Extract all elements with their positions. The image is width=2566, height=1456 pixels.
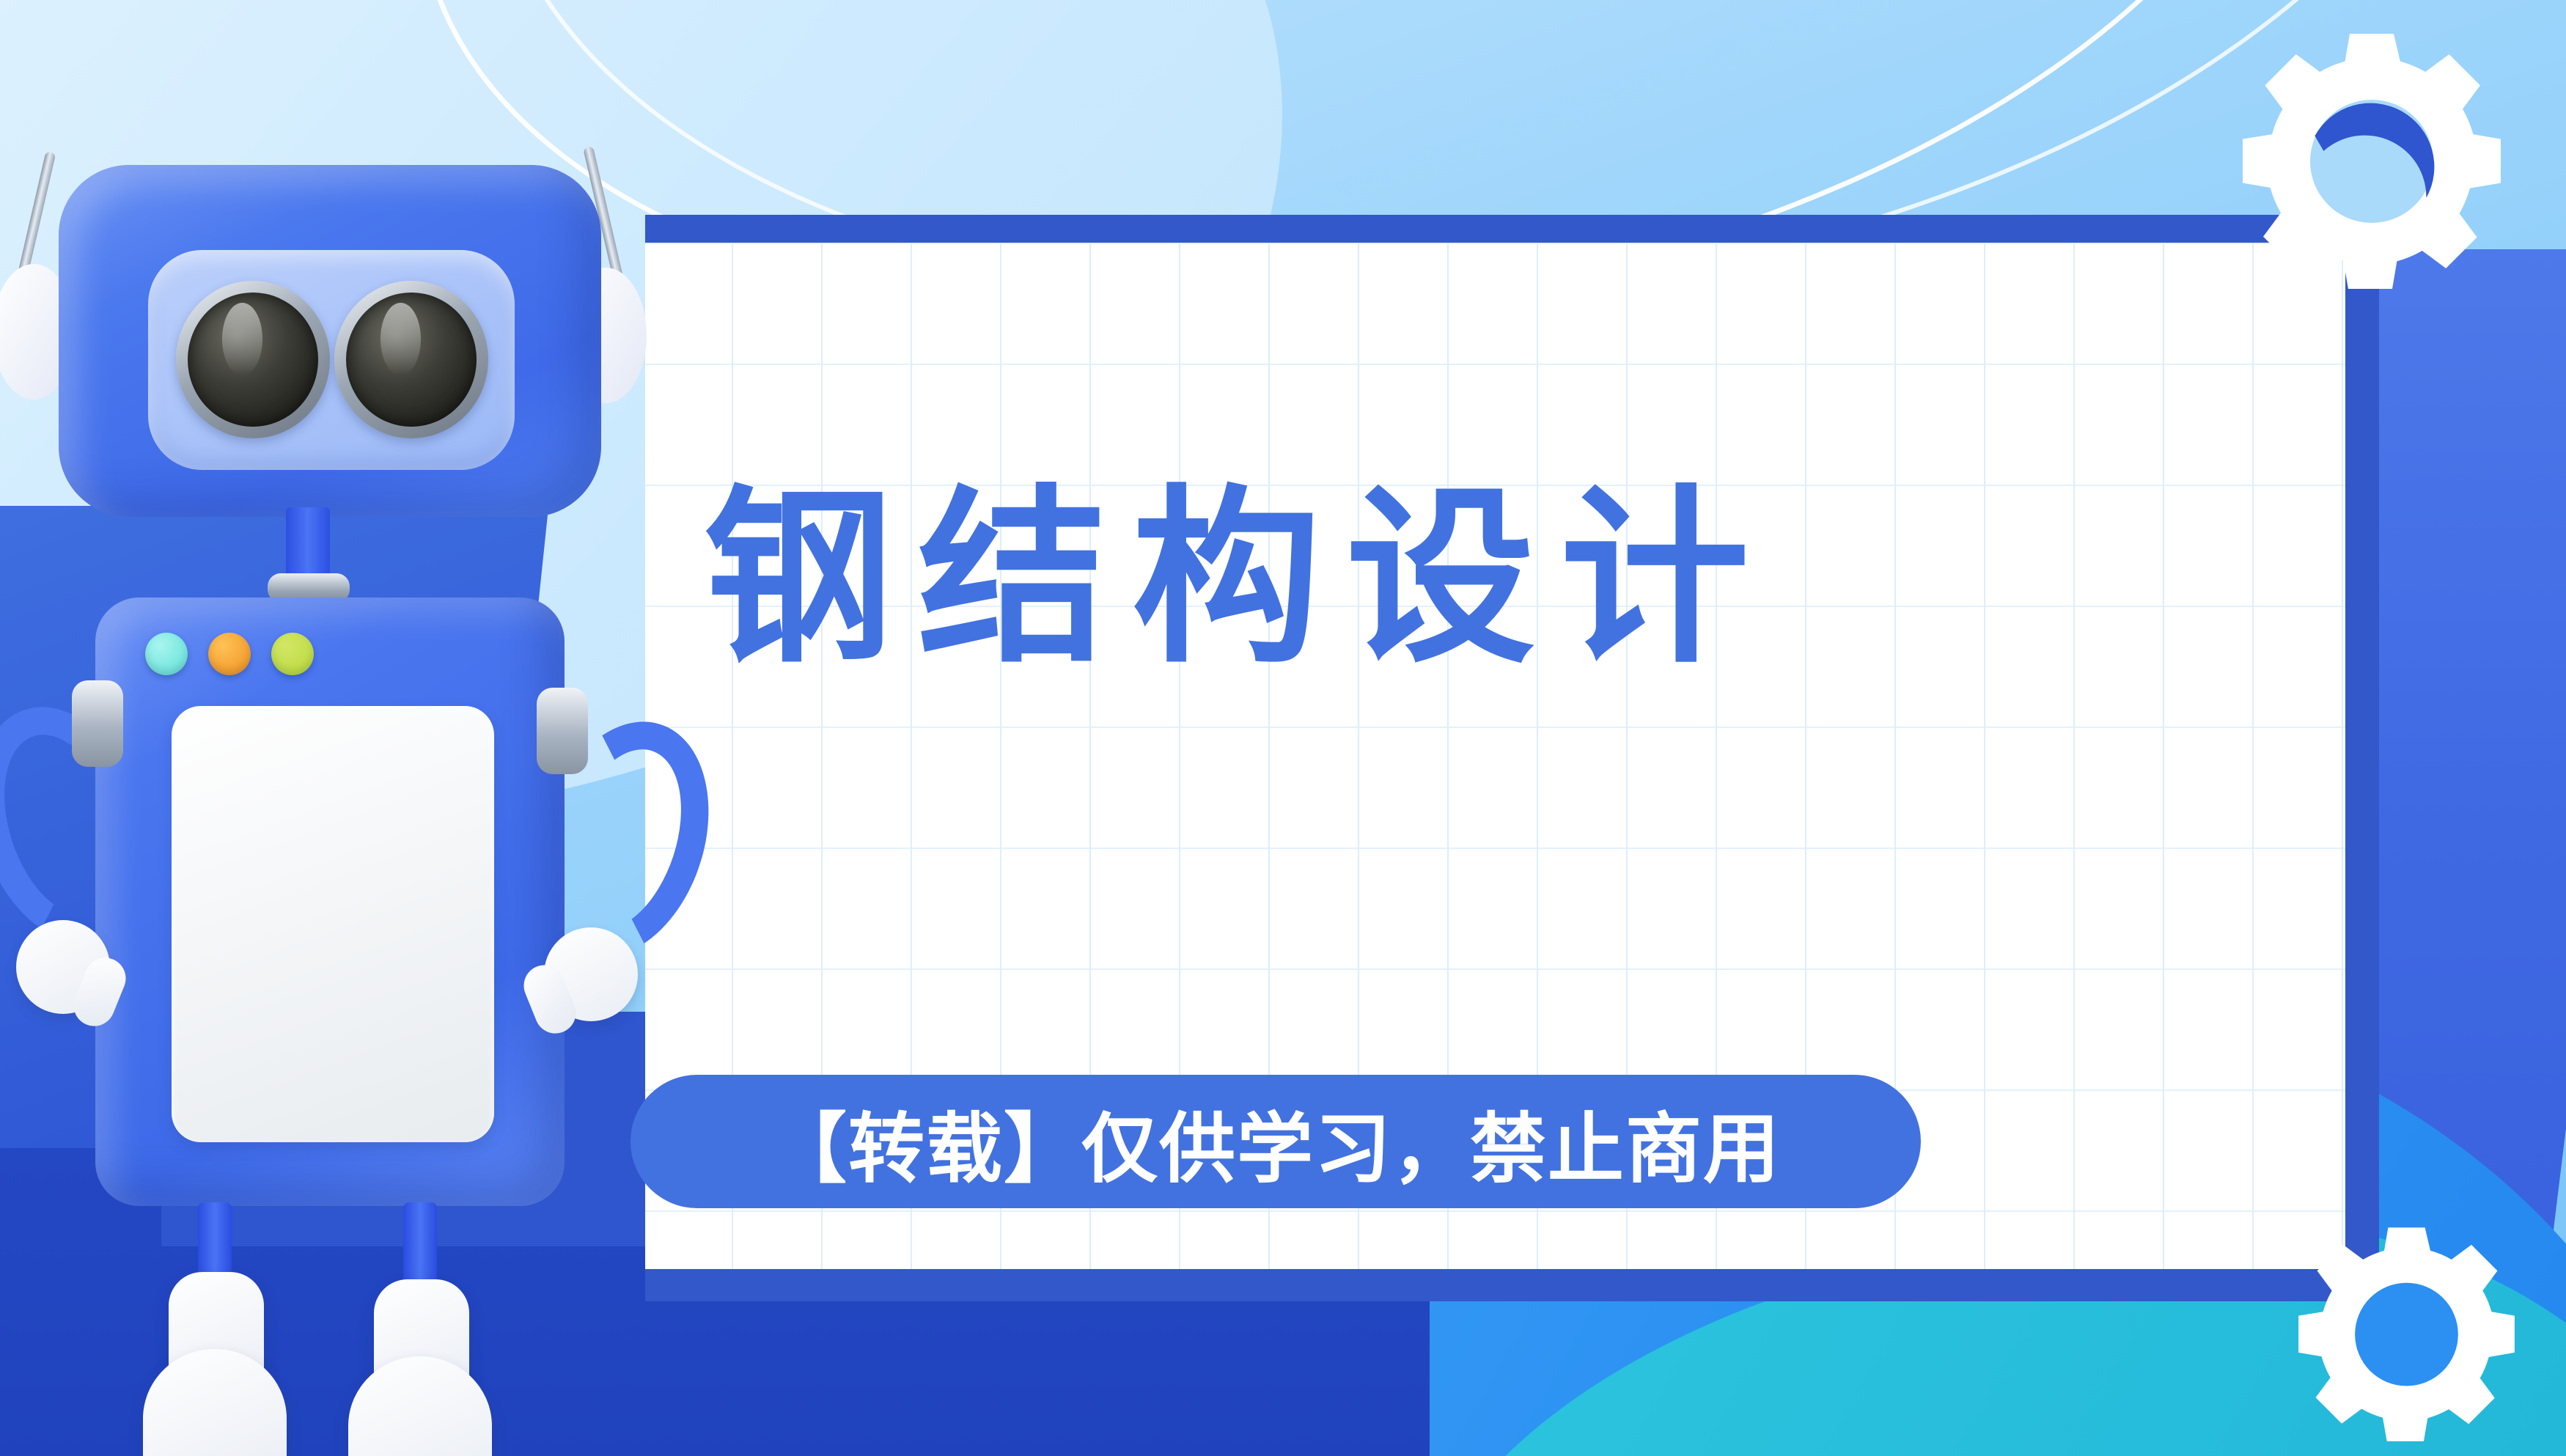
status-dot-orange: [208, 633, 251, 675]
robot-mascot: [0, 59, 704, 1378]
gear-icon: [2225, 22, 2518, 315]
card-right-border: [2345, 243, 2379, 1269]
eye-right-highlight: [381, 303, 421, 375]
robot-screen: [172, 706, 494, 1142]
page-title: 钢结构设计: [704, 484, 2287, 673]
shoulder-left: [72, 680, 123, 767]
eye-left-highlight: [222, 303, 262, 375]
eye-left: [176, 281, 330, 438]
card-bottom-border: [645, 1269, 2379, 1301]
shoulder-right: [537, 688, 588, 774]
notice-banner-text: 【转载】仅供学习，禁止商用: [771, 1087, 1781, 1197]
status-dot-cyan: [145, 633, 188, 675]
gear-icon: [2284, 1218, 2529, 1456]
robot-faceplate: [148, 250, 515, 470]
card-top-border: [645, 215, 2379, 243]
foot-right: [348, 1356, 492, 1456]
robot-body: [95, 598, 565, 1206]
notice-banner: 【转载】仅供学习，禁止商用: [631, 1075, 1921, 1208]
status-dot-green: [271, 633, 314, 675]
foot-left: [143, 1349, 287, 1456]
robot-head: [59, 165, 601, 517]
eye-right: [334, 281, 488, 438]
poster-canvas: 钢结构设计 【转载】仅供学习，禁止商用: [0, 0, 2566, 1456]
